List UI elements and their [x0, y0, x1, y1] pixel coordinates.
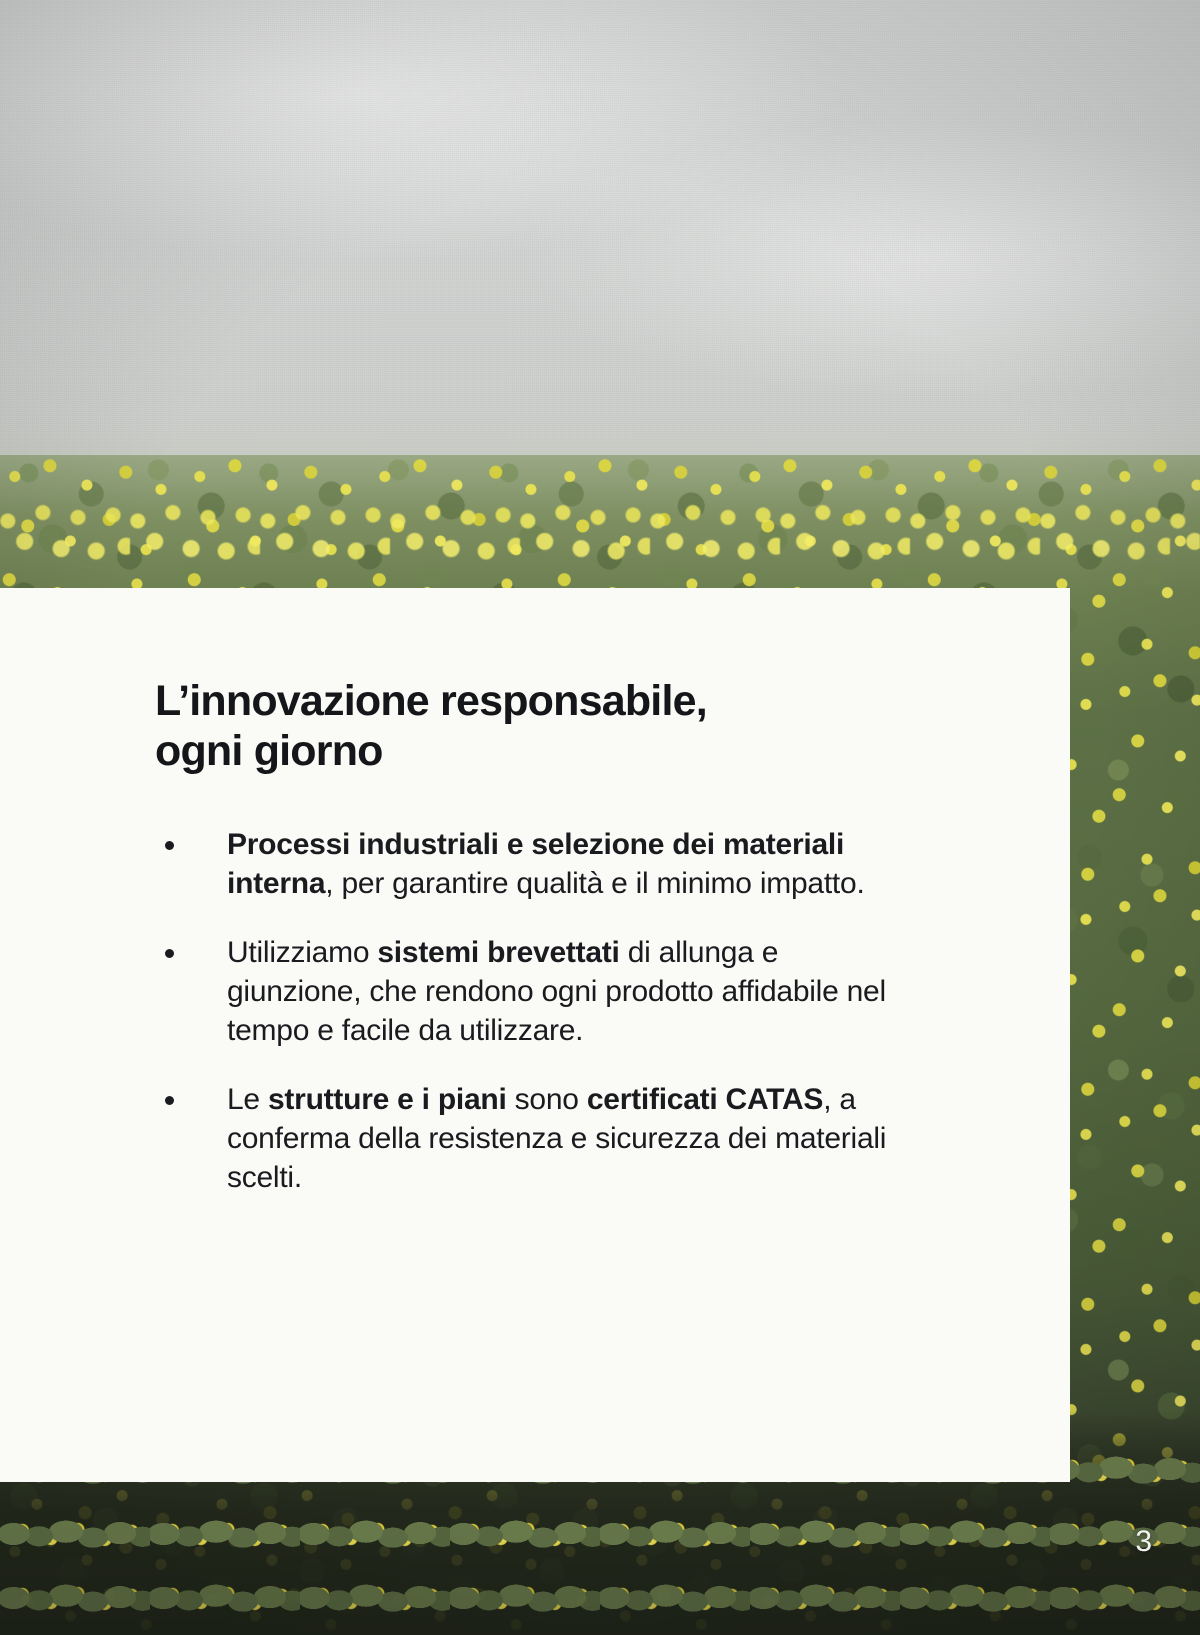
- bullet-text-run: Le: [227, 1083, 268, 1116]
- bullet-dot-icon: [165, 1096, 174, 1105]
- sky-grain-texture: [0, 0, 1200, 470]
- feature-bullet-list: Processi industriali e selezione dei mat…: [155, 825, 895, 1197]
- bullet-text-run: , per garantire qualità e il minimo impa…: [325, 867, 864, 900]
- feature-bullet-text: Le strutture e i piani sono certificati …: [227, 1083, 886, 1194]
- sky-background: [0, 0, 1200, 470]
- bullet-dot-icon: [165, 949, 174, 958]
- bullet-text-emphasis: sistemi brevettati: [377, 936, 619, 969]
- feature-bullet-1: Processi industriali e selezione dei mat…: [155, 825, 895, 903]
- bullet-text-run: sono: [507, 1083, 587, 1116]
- slide: L’innovazione responsabile, ogni giorno …: [0, 0, 1200, 1635]
- feature-bullet-3: Le strutture e i piani sono certificati …: [155, 1080, 895, 1197]
- feature-bullet-2: Utilizziamo sistemi brevettati di allung…: [155, 933, 895, 1050]
- page-title: L’innovazione responsabile, ogni giorno: [155, 676, 895, 777]
- bullet-dot-icon: [165, 841, 174, 850]
- bullet-text-emphasis: certificati CATAS: [587, 1083, 823, 1116]
- crop-row: [0, 1575, 1200, 1621]
- page-number: 3: [1135, 1527, 1152, 1557]
- horizon-bloom-band: [0, 455, 1200, 575]
- crop-row: [0, 1511, 1200, 1557]
- feature-bullet-text: Utilizziamo sistemi brevettati di allung…: [227, 936, 886, 1047]
- feature-bullet-text: Processi industriali e selezione dei mat…: [227, 828, 865, 900]
- content-card-inner: L’innovazione responsabile, ogni giorno …: [155, 676, 895, 1197]
- bullet-text-run: Utilizziamo: [227, 936, 377, 969]
- content-card: L’innovazione responsabile, ogni giorno …: [0, 588, 1070, 1482]
- bullet-text-emphasis: strutture e i piani: [268, 1083, 507, 1116]
